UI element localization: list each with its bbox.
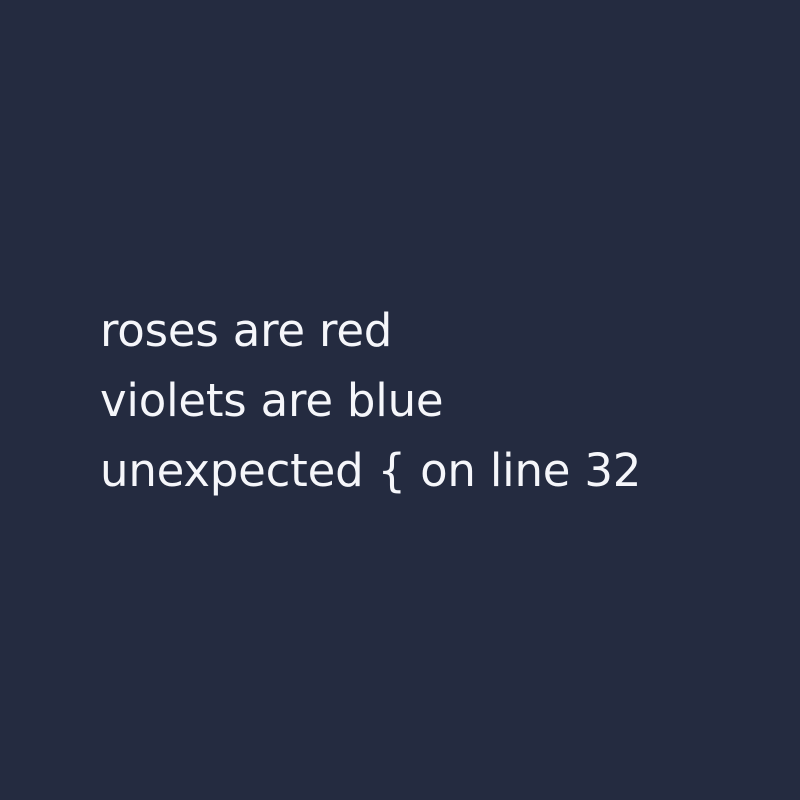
poem-text-block: roses are red violets are blue unexpecte… [100,296,760,506]
poem-line-1: roses are red [100,296,760,366]
image-canvas: roses are red violets are blue unexpecte… [0,0,800,800]
poem-line-2: violets are blue [100,366,760,436]
poem-line-3: unexpected { on line 32 [100,436,760,506]
